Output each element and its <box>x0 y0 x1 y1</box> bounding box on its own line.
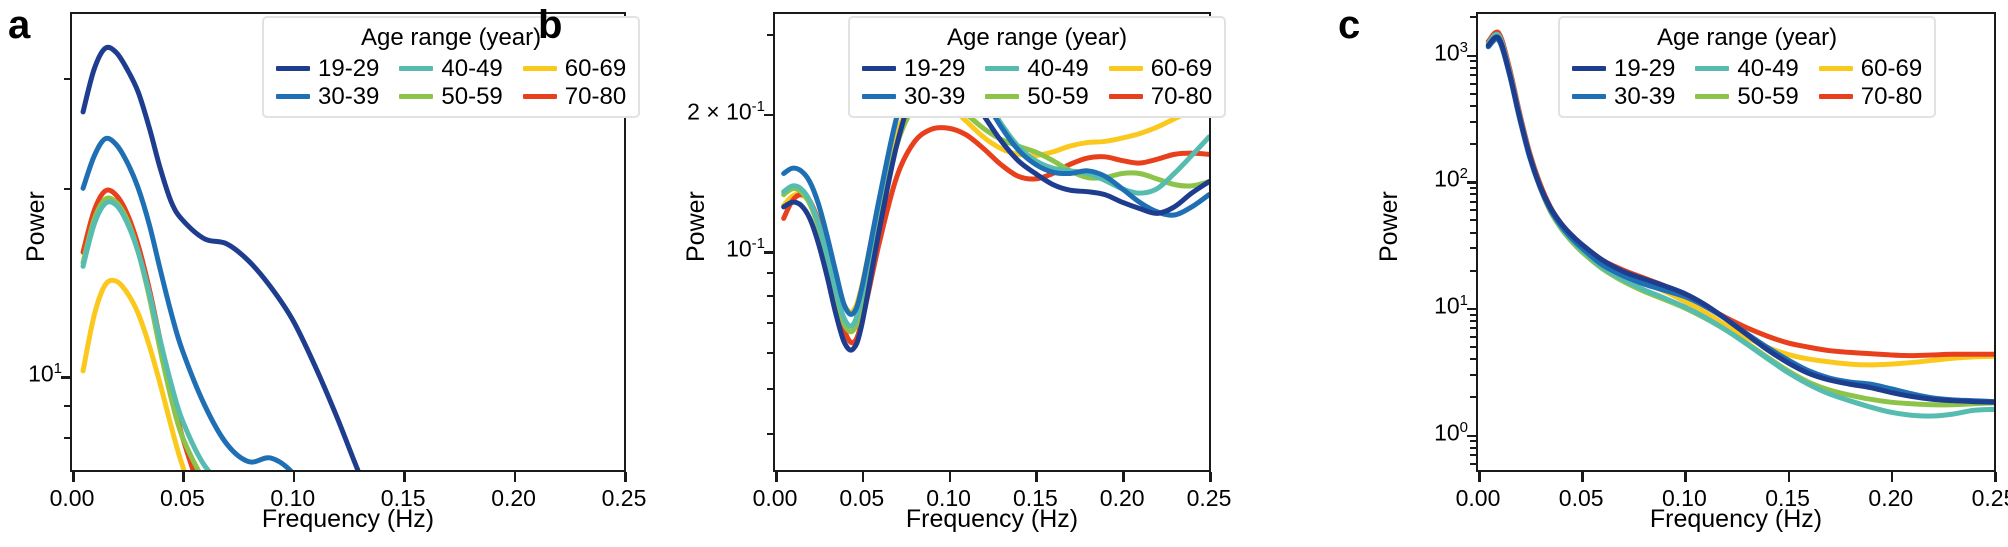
panel-c-letter: c <box>1338 5 1360 45</box>
x-tick-major <box>1035 472 1038 482</box>
legend-swatch-icon <box>399 66 433 71</box>
legend-label: 50-59 <box>1737 84 1798 109</box>
legend-entries: 19-2940-4960-6930-3950-5970-80 <box>862 56 1212 109</box>
y-tick-minor <box>1470 247 1476 249</box>
x-tick-major <box>1209 472 1212 482</box>
y-tick-label: 101 <box>1390 292 1468 320</box>
y-tick-minor <box>767 433 773 435</box>
legend-label: 40-49 <box>441 56 502 81</box>
y-tick-major <box>764 251 773 254</box>
legend-label: 60-69 <box>1151 56 1212 81</box>
y-tick-minor <box>1470 209 1476 211</box>
legend-entries: 19-2940-4960-6930-3950-5970-80 <box>1572 56 1922 109</box>
legend-item-30-39[interactable]: 30-39 <box>862 84 965 109</box>
y-tick-label: 102 <box>1390 165 1468 193</box>
legend-label: 70-80 <box>1861 84 1922 109</box>
y-tick-minor <box>1470 346 1476 348</box>
legend-item-19-29[interactable]: 19-29 <box>862 56 965 81</box>
legend-swatch-icon <box>1819 94 1853 99</box>
legend-swatch-icon <box>1109 66 1143 71</box>
x-tick-major <box>293 472 296 482</box>
x-tick-major <box>1581 472 1584 482</box>
legend-swatch-icon <box>985 94 1019 99</box>
y-tick-major <box>1467 435 1476 438</box>
y-tick-minor <box>1470 219 1476 221</box>
legend-swatch-icon <box>862 94 896 99</box>
legend-label: 50-59 <box>441 84 502 109</box>
panel-c-legend: Age range (year) 19-2940-4960-6930-3950-… <box>1558 16 1936 118</box>
legend-swatch-icon <box>1695 94 1729 99</box>
legend-label: 19-29 <box>318 56 379 81</box>
y-tick-minor <box>767 322 773 324</box>
legend-item-60-69[interactable]: 60-69 <box>1819 56 1922 81</box>
y-tick-minor <box>1470 105 1476 107</box>
y-tick-minor <box>1470 93 1476 95</box>
panel-c: c Power 103102101100 0.000.050.100.150.2… <box>1330 0 2008 547</box>
x-tick-major <box>1478 472 1481 482</box>
panel-a-ylabel: Power <box>22 191 51 262</box>
legend-label: 50-59 <box>1027 84 1088 109</box>
y-tick-minor <box>1470 232 1476 234</box>
x-tick-major <box>514 472 517 482</box>
y-tick-minor <box>1470 143 1476 145</box>
y-tick-minor <box>1470 193 1476 195</box>
legend-swatch-icon <box>276 66 310 71</box>
y-tick-minor <box>1470 16 1476 18</box>
y-tick-major <box>1467 181 1476 184</box>
y-tick-minor <box>1470 187 1476 189</box>
panel-c-ylabel: Power <box>1375 191 1404 262</box>
y-tick-label: 10-1 <box>687 235 765 263</box>
y-tick-minor <box>1470 336 1476 338</box>
legend-swatch-icon <box>862 66 896 71</box>
legend-label: 60-69 <box>1861 56 1922 81</box>
legend-swatch-icon <box>1109 94 1143 99</box>
legend-swatch-icon <box>399 94 433 99</box>
y-tick-minor <box>1470 463 1476 465</box>
y-tick-minor <box>1470 358 1476 360</box>
legend-item-60-69[interactable]: 60-69 <box>1109 56 1212 81</box>
legend-title: Age range (year) <box>862 24 1212 52</box>
x-tick-major <box>1891 472 1894 482</box>
y-tick-minor <box>767 34 773 36</box>
legend-item-50-59[interactable]: 50-59 <box>1695 84 1798 109</box>
y-tick-minor <box>64 188 70 190</box>
legend-item-50-59[interactable]: 50-59 <box>985 84 1088 109</box>
legend-swatch-icon <box>985 66 1019 71</box>
panel-c-xlabel: Frequency (Hz) <box>1476 505 1996 534</box>
panel-b-letter: b <box>538 5 562 45</box>
x-tick-major <box>862 472 865 482</box>
legend-label: 40-49 <box>1737 56 1798 81</box>
y-tick-label: 103 <box>1390 39 1468 67</box>
legend-item-70-80[interactable]: 70-80 <box>1819 84 1922 109</box>
x-tick-major <box>1788 472 1791 482</box>
legend-item-30-39[interactable]: 30-39 <box>276 84 379 109</box>
y-tick-minor <box>1470 201 1476 203</box>
y-tick-minor <box>767 388 773 390</box>
legend-title: Age range (year) <box>1572 24 1922 52</box>
y-tick-minor <box>767 295 773 297</box>
y-tick-minor <box>1470 447 1476 449</box>
y-tick-minor <box>64 437 70 439</box>
y-tick-label: 101 <box>0 360 62 388</box>
x-tick-major <box>1994 472 1997 482</box>
y-tick-minor <box>64 78 70 80</box>
x-tick-major <box>1122 472 1125 482</box>
y-tick-major <box>1467 308 1476 311</box>
legend-label: 30-39 <box>318 84 379 109</box>
y-tick-minor <box>1470 320 1476 322</box>
legend-item-40-49[interactable]: 40-49 <box>399 56 502 81</box>
panel-b-xlabel: Frequency (Hz) <box>773 505 1211 534</box>
legend-swatch-icon <box>1572 94 1606 99</box>
y-tick-major <box>764 114 773 117</box>
legend-label: 19-29 <box>1614 56 1675 81</box>
x-tick-major <box>1684 472 1687 482</box>
x-tick-major <box>775 472 778 482</box>
y-tick-minor <box>1470 270 1476 272</box>
y-tick-minor <box>1470 83 1476 85</box>
legend-label: 30-39 <box>904 84 965 109</box>
x-tick-major <box>182 472 185 482</box>
figure-root: a Power 101 0.000.050.100.150.200.25 Fre… <box>0 0 2008 547</box>
panel-b-legend: Age range (year) 19-2940-4960-6930-3950-… <box>848 16 1226 118</box>
x-tick-major <box>403 472 406 482</box>
y-tick-minor <box>1470 67 1476 69</box>
legend-item-50-59[interactable]: 50-59 <box>399 84 502 109</box>
y-tick-minor <box>1470 374 1476 376</box>
legend-item-70-80[interactable]: 70-80 <box>1109 84 1212 109</box>
legend-swatch-icon <box>1572 66 1606 71</box>
x-tick-major <box>949 472 952 482</box>
legend-item-19-29[interactable]: 19-29 <box>1572 56 1675 81</box>
y-tick-minor <box>767 352 773 354</box>
y-tick-minor <box>64 405 70 407</box>
legend-label: 19-29 <box>904 56 965 81</box>
legend-swatch-icon <box>276 94 310 99</box>
y-tick-minor <box>1470 327 1476 329</box>
x-tick-major <box>72 472 75 482</box>
legend-item-40-49[interactable]: 40-49 <box>1695 56 1798 81</box>
legend-item-40-49[interactable]: 40-49 <box>985 56 1088 81</box>
legend-item-30-39[interactable]: 30-39 <box>1572 84 1675 109</box>
legend-label: 70-80 <box>1151 84 1212 109</box>
y-tick-label: 2 × 10-1 <box>687 98 765 126</box>
panel-b: b Power 2 × 10-110-1 0.000.050.100.150.2… <box>530 0 1210 547</box>
y-tick-minor <box>1470 454 1476 456</box>
y-tick-minor <box>767 272 773 274</box>
y-tick-minor <box>1470 74 1476 76</box>
y-tick-minor <box>1470 314 1476 316</box>
y-tick-major <box>1467 55 1476 58</box>
y-tick-label: 100 <box>1390 419 1468 447</box>
y-tick-minor <box>1470 440 1476 442</box>
legend-swatch-icon <box>1819 66 1853 71</box>
legend-item-19-29[interactable]: 19-29 <box>276 56 379 81</box>
legend-label: 40-49 <box>1027 56 1088 81</box>
y-tick-minor <box>1470 121 1476 123</box>
legend-label: 30-39 <box>1614 84 1675 109</box>
panel-a-letter: a <box>8 5 30 45</box>
y-tick-minor <box>1470 60 1476 62</box>
legend-swatch-icon <box>1695 66 1729 71</box>
y-tick-major <box>61 376 70 379</box>
y-tick-minor <box>1470 396 1476 398</box>
